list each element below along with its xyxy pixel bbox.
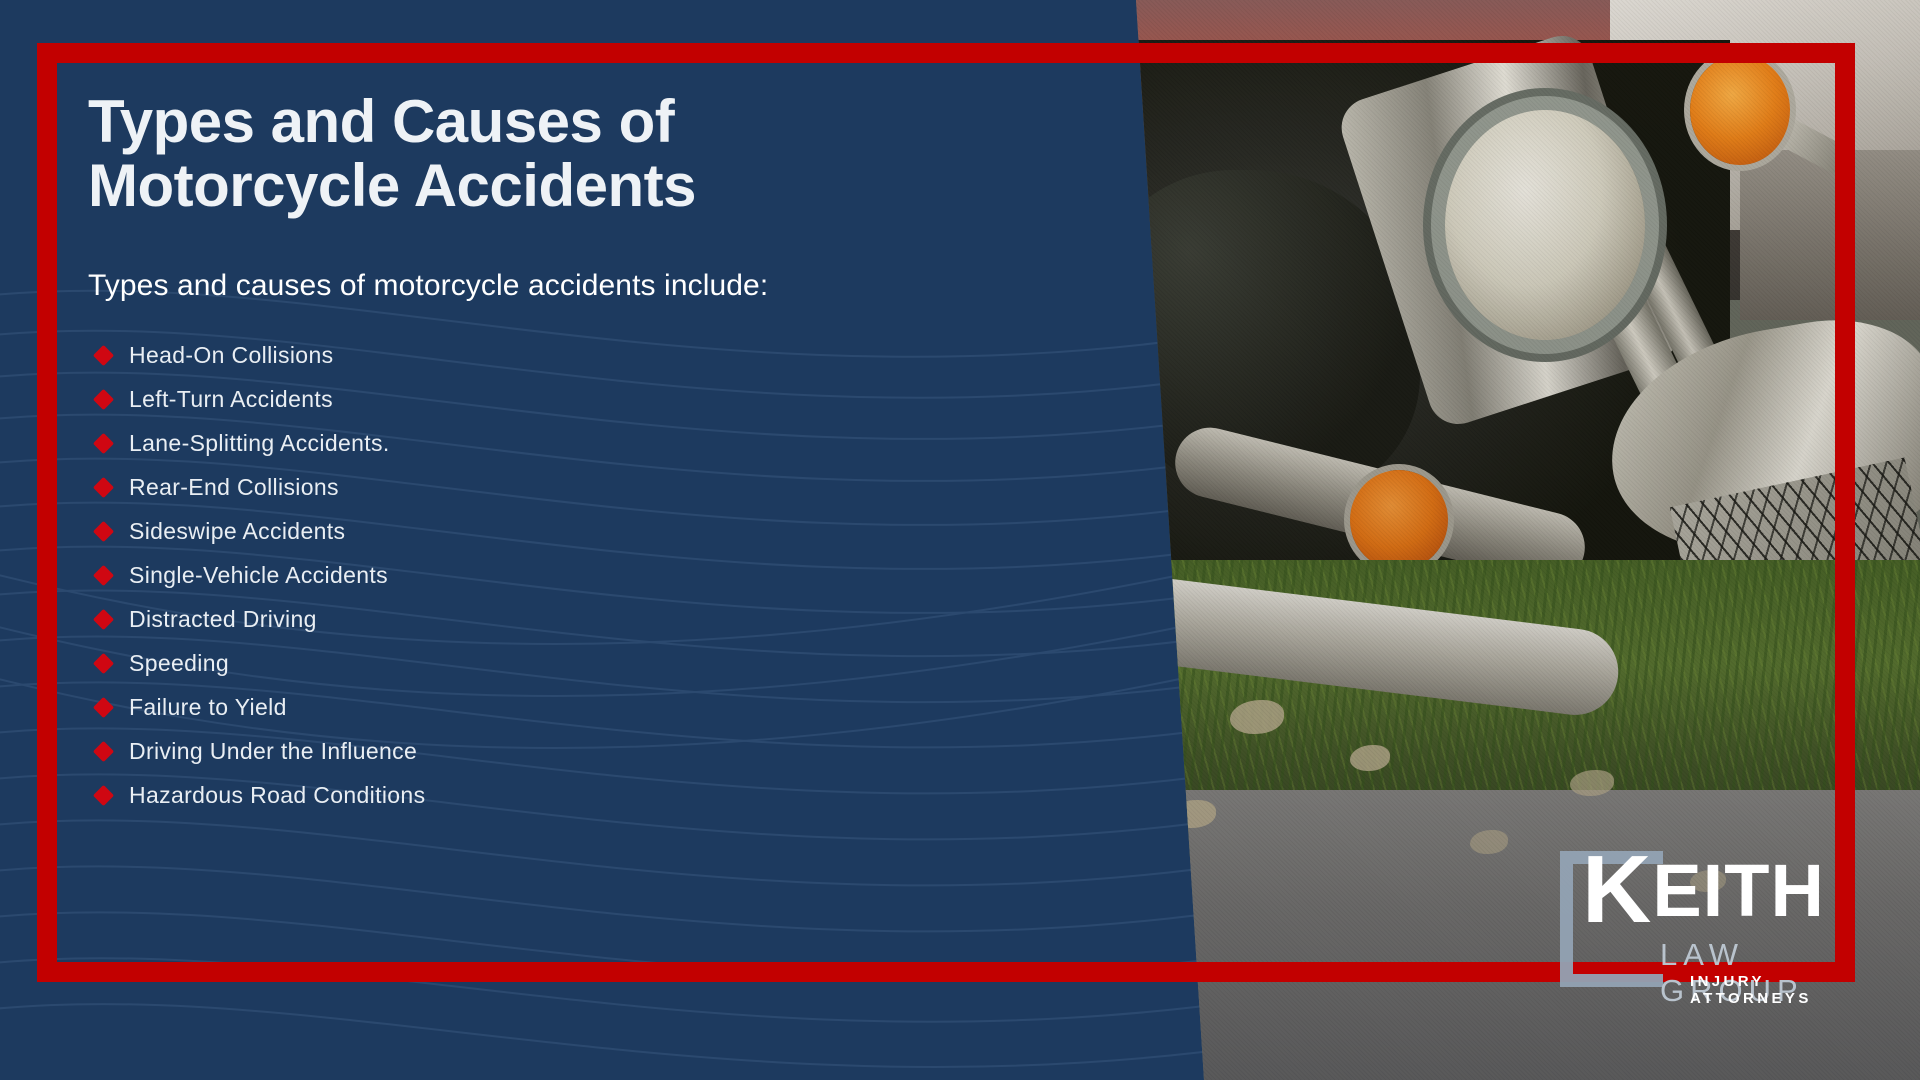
page-title-line-1: Types and Causes of xyxy=(88,88,674,155)
list-item-label: Left-Turn Accidents xyxy=(129,386,333,413)
list-item-label: Lane-Splitting Accidents. xyxy=(129,430,390,457)
slide-canvas: Types and Causes of Motorcycle Accidents… xyxy=(0,0,1920,1080)
logo-wordmark: KEITH xyxy=(1582,847,1825,933)
list-item-label: Driving Under the Influence xyxy=(129,738,417,765)
diamond-bullet-icon xyxy=(93,697,114,718)
list-item: Lane-Splitting Accidents. xyxy=(88,421,1048,465)
causes-list: Head-On Collisions Left-Turn Accidents L… xyxy=(88,333,1048,817)
diamond-bullet-icon xyxy=(93,477,114,498)
slide-content: Types and Causes of Motorcycle Accidents… xyxy=(88,90,1048,817)
list-item: Left-Turn Accidents xyxy=(88,377,1048,421)
list-item: Hazardous Road Conditions xyxy=(88,773,1048,817)
page-title: Types and Causes of Motorcycle Accidents xyxy=(88,90,1048,217)
list-item-label: Single-Vehicle Accidents xyxy=(129,562,388,589)
keith-law-group-logo: KEITH LAW GROUP INJURY ATTORNEYS xyxy=(1560,845,1860,990)
diamond-bullet-icon xyxy=(93,565,114,586)
diamond-bullet-icon xyxy=(93,609,114,630)
list-item-label: Failure to Yield xyxy=(129,694,287,721)
diamond-bullet-icon xyxy=(93,741,114,762)
list-item-label: Hazardous Road Conditions xyxy=(129,782,425,809)
list-item: Speeding xyxy=(88,641,1048,685)
diamond-bullet-icon xyxy=(93,785,114,806)
list-item-label: Head-On Collisions xyxy=(129,342,333,369)
diamond-bullet-icon xyxy=(93,433,114,454)
diamond-bullet-icon xyxy=(93,653,114,674)
list-item: Sideswipe Accidents xyxy=(88,509,1048,553)
logo-rest-letters: EITH xyxy=(1652,849,1825,932)
list-item-label: Sideswipe Accidents xyxy=(129,518,345,545)
list-item: Distracted Driving xyxy=(88,597,1048,641)
list-item: Head-On Collisions xyxy=(88,333,1048,377)
diamond-bullet-icon xyxy=(93,345,114,366)
list-item-label: Rear-End Collisions xyxy=(129,474,339,501)
list-item-label: Distracted Driving xyxy=(129,606,317,633)
list-item-label: Speeding xyxy=(129,650,229,677)
list-item: Failure to Yield xyxy=(88,685,1048,729)
logo-line-injury-attorneys: INJURY ATTORNEYS xyxy=(1690,973,1860,1007)
diamond-bullet-icon xyxy=(93,521,114,542)
list-item: Driving Under the Influence xyxy=(88,729,1048,773)
diamond-bullet-icon xyxy=(93,389,114,410)
list-item: Rear-End Collisions xyxy=(88,465,1048,509)
page-title-line-2: Motorcycle Accidents xyxy=(88,154,1048,218)
subtitle: Types and causes of motorcycle accidents… xyxy=(88,269,1048,303)
logo-k-letter: K xyxy=(1582,836,1652,943)
list-item: Single-Vehicle Accidents xyxy=(88,553,1048,597)
